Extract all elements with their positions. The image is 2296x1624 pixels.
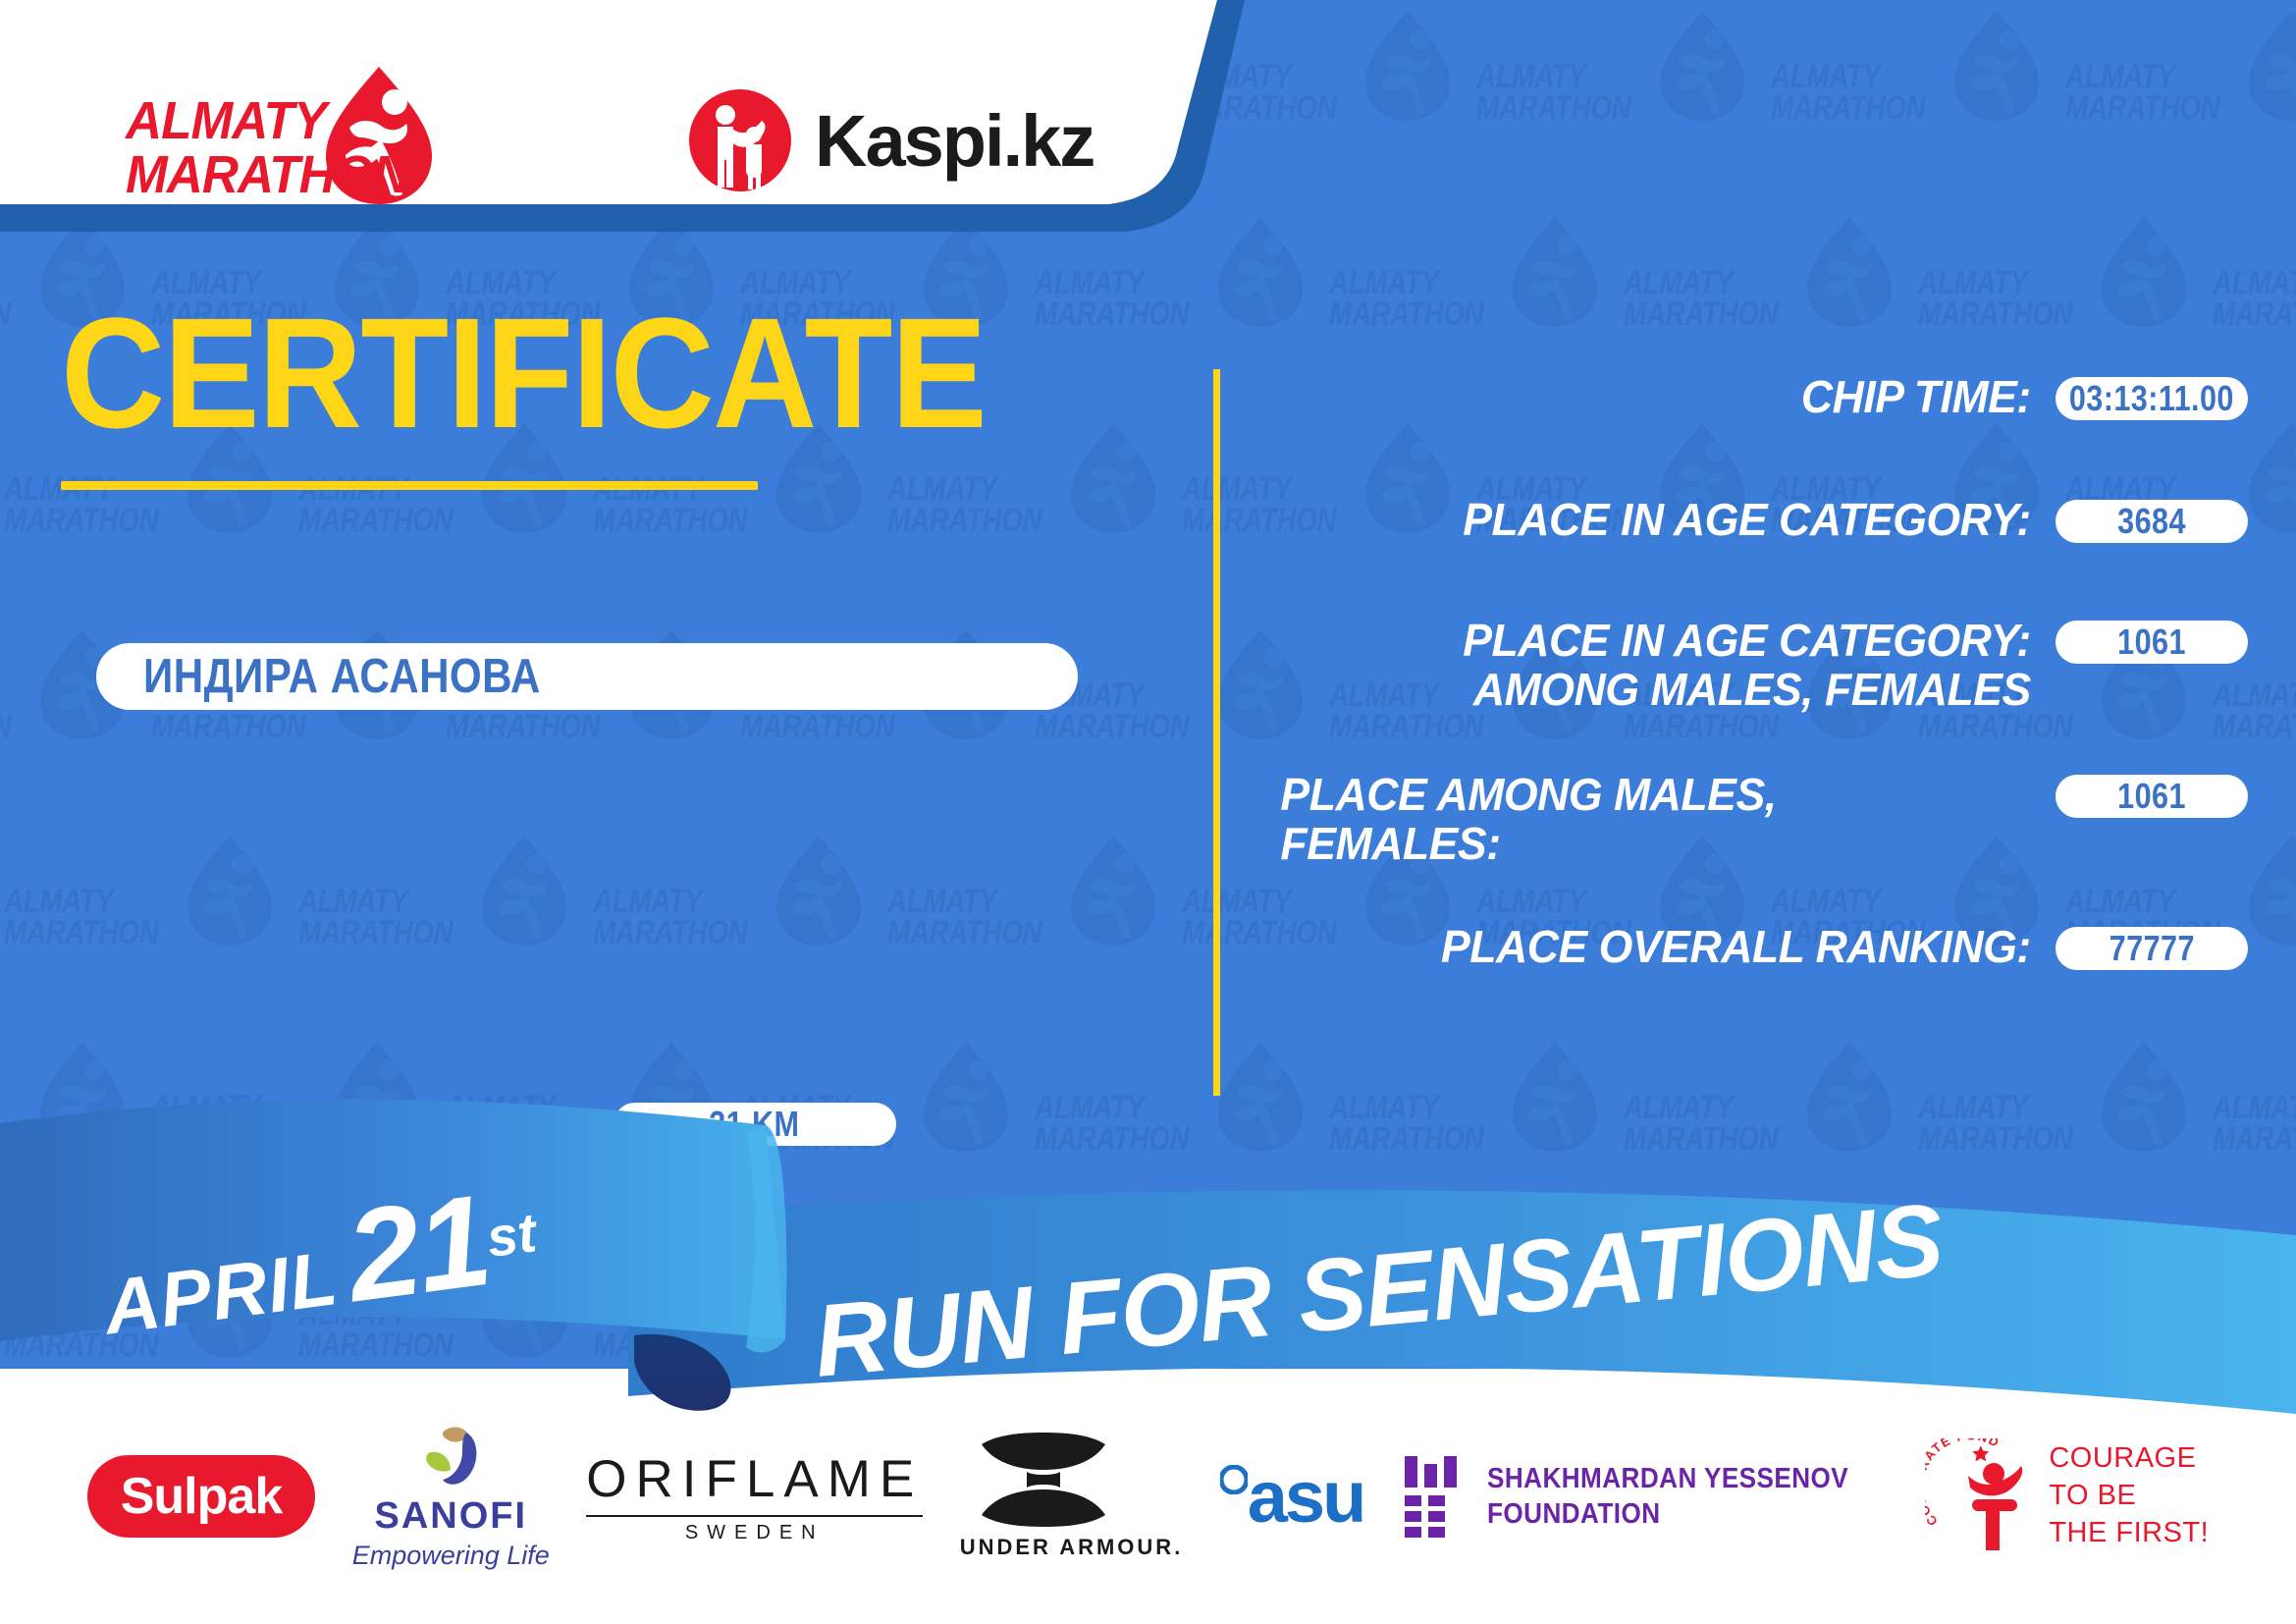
runner-drop-watermark-icon (2244, 420, 2296, 536)
runner-drop-watermark-icon (2097, 214, 2191, 330)
runner-drop-watermark-icon (1066, 420, 1160, 536)
place-among-males-females-label: PLACE AMONG MALES, FEMALES: (1280, 771, 2056, 868)
watermark-text: ALMATYMARATHON (887, 886, 1041, 949)
label-line-1: PLACE IN AGE CATEGORY: (1280, 617, 2030, 666)
sponsor-under-armour: UNDER ARMOUR. (960, 1433, 1184, 1560)
runner-drop-watermark-icon (1508, 214, 1602, 330)
courage-line-2: TO BE (2049, 1478, 2209, 1515)
yessenov-foundation-logo-icon (1401, 1454, 1466, 1539)
place-among-males-females-value: 1061 (2117, 776, 2186, 817)
watermark-tile: ALMATYMARATHON (589, 825, 883, 1031)
stat-row-chip-time: CHIP TIME: 03:13:11.00 (1256, 373, 2248, 422)
participant-name-field: ИНДИРА АСАНОВА (96, 643, 1078, 710)
sulpak-logo: Sulpak (87, 1455, 316, 1538)
certificate-page: ALMATYMARATHONALMATYMARATHONALMATYMARATH… (0, 0, 2296, 1624)
sponsors-row: Sulpak SANOFI Empowering Life ORIFLAME S… (0, 1369, 2296, 1624)
place-age-category-value: 3684 (2117, 501, 2186, 542)
runner-drop-watermark-icon (477, 833, 571, 948)
almaty-marathon-wordmark: ALMATY MARATHON (126, 94, 408, 202)
vertical-divider (1213, 369, 1220, 1096)
sponsor-courage-fund: CORPORATE FUND COURAGE TO BE THE FIRST! (1925, 1438, 2209, 1554)
oriflame-divider (586, 1515, 923, 1517)
event-month: APRIL (99, 1234, 343, 1350)
place-overall-ranking-value: 77777 (2109, 928, 2194, 969)
watermark-text: ALMATYMARATHON (2213, 267, 2296, 331)
kaspi-wordmark: Kaspi.kz (815, 99, 1094, 183)
runner-drop-watermark-icon (1066, 833, 1160, 948)
oriflame-subtitle: SWEDEN (586, 1522, 923, 1544)
place-age-category-among-value: 1061 (2117, 622, 2186, 663)
kaspi-logo: Kaspi.kz (687, 86, 1094, 194)
watermark-text: ALMATYMARATHON (1918, 267, 2072, 331)
runner-drop-watermark-icon (772, 833, 866, 948)
courage-fund-logo-icon: CORPORATE FUND (1925, 1438, 2035, 1554)
sponsor-asu: asu (1220, 1455, 1364, 1539)
watermark-text: ALMATYMARATHON (1329, 267, 1483, 331)
place-overall-ranking-value-pill: 77777 (2056, 927, 2248, 970)
watermark-text: ALMATYMARATHON (1624, 267, 1778, 331)
sanofi-wordmark: SANOFI (352, 1495, 550, 1538)
page-title: CERTIFICATE (61, 295, 986, 452)
stat-row-place-among-males-females: PLACE AMONG MALES, FEMALES: 1061 (1256, 771, 2248, 868)
yessenov-line-2: FOUNDATION (1487, 1496, 1848, 1532)
stat-row-place-overall-ranking: PLACE OVERALL RANKING: 77777 (1256, 923, 2248, 972)
chip-time-value: 03:13:11.00 (2069, 378, 2234, 419)
watermark-text: ALMATYMARATHON (298, 886, 453, 949)
runner-drop-watermark-icon (1655, 8, 1749, 124)
chip-time-label: CHIP TIME: (1280, 373, 2056, 422)
yessenov-wordmark: SHAKHMARDAN YESSENOV FOUNDATION (1487, 1461, 1848, 1533)
watermark-tile: ALMATYMARATHON (2061, 0, 2296, 206)
label-line-2: AMONG MALES, FEMALES (1280, 666, 2030, 715)
label-line-1: PLACE AMONG MALES, (1280, 771, 2030, 820)
runner-drop-watermark-icon (1949, 8, 2044, 124)
watermark-text: ALMATYMARATHON (4, 886, 158, 949)
asu-accent-icon (1220, 1465, 1248, 1494)
runner-drop-watermark-icon (2244, 833, 2296, 948)
kaspi-people-icon (687, 87, 793, 193)
runner-drop-watermark-icon (183, 833, 277, 948)
watermark-tile: ALMATYMARATHON (0, 825, 294, 1031)
sanofi-tagline: Empowering Life (352, 1541, 550, 1571)
place-age-category-label: PLACE IN AGE CATEGORY: (1280, 496, 2056, 545)
watermark-text: ALMATYMARATHON (1771, 61, 1925, 125)
stat-row-place-age-category: PLACE IN AGE CATEGORY: 3684 (1256, 496, 2248, 545)
watermark-tile: ALMATYMARATHON (294, 825, 589, 1031)
marathon-logo-line2: MARATHON (126, 148, 408, 202)
watermark-text: ALMATYMARATHON (1476, 61, 1630, 125)
sponsor-sanofi: SANOFI Empowering Life (352, 1423, 550, 1571)
watermark-tile: ALMATYMARATHON (883, 825, 1178, 1031)
header-logos: ALMATY MARATHON Kaspi.kz (0, 0, 1315, 285)
watermark-tile: ALMATYMARATHON (1767, 0, 2061, 206)
place-age-category-value-pill: 3684 (2056, 500, 2248, 543)
runner-drop-watermark-icon (1802, 214, 1896, 330)
almaty-marathon-logo: ALMATY MARATHON (126, 69, 450, 206)
place-age-category-among-value-pill: 1061 (2056, 621, 2248, 664)
event-ribbon: APRIL21st RUN FOR SENSATIONS (0, 1090, 2296, 1414)
yessenov-line-1: SHAKHMARDAN YESSENOV (1487, 1461, 1848, 1496)
marathon-logo-line1: ALMATY (126, 94, 408, 148)
sanofi-logo-icon (401, 1423, 500, 1493)
courage-line-3: THE FIRST! (2049, 1515, 2209, 1552)
watermark-text: ALMATYMARATHON (887, 473, 1041, 537)
courage-line-1: COURAGE (2049, 1440, 2209, 1478)
courage-fund-wordmark: COURAGE TO BE THE FIRST! (2049, 1440, 2209, 1551)
watermark-text: ALMATYMARATHON (593, 886, 747, 949)
label-line-2: FEMALES: (1280, 820, 2030, 869)
chip-time-value-pill: 03:13:11.00 (2056, 377, 2248, 420)
place-overall-ranking-label: PLACE OVERALL RANKING: (1280, 923, 2056, 972)
under-armour-logo-icon (960, 1433, 1127, 1527)
place-among-males-females-value-pill: 1061 (2056, 775, 2248, 818)
event-day-suffix: st (483, 1201, 540, 1269)
stat-row-place-age-category-among: PLACE IN AGE CATEGORY: AMONG MALES, FEMA… (1256, 617, 2248, 714)
oriflame-wordmark: ORIFLAME (586, 1449, 923, 1509)
watermark-text: ALMATYMARATHON (2065, 61, 2219, 125)
place-age-category-among-label: PLACE IN AGE CATEGORY: AMONG MALES, FEMA… (1280, 617, 2056, 714)
event-day: 21 (339, 1167, 497, 1328)
asu-wordmark: asu (1248, 1455, 1364, 1539)
watermark-text: ALMATYMARATHON (0, 679, 11, 743)
runner-drop-watermark-icon (2244, 8, 2296, 124)
title-underline (61, 481, 758, 490)
under-armour-wordmark: UNDER ARMOUR. (960, 1535, 1184, 1560)
sponsor-oriflame: ORIFLAME SWEDEN (586, 1449, 923, 1544)
sponsor-sulpak: Sulpak (87, 1455, 316, 1538)
participant-name: ИНДИРА АСАНОВА (143, 649, 541, 704)
sponsor-yessenov-foundation: SHAKHMARDAN YESSENOV FOUNDATION (1401, 1454, 1889, 1539)
watermark-tile: ALMATYMARATHON (1472, 0, 1767, 206)
runner-drop-watermark-icon (1361, 8, 1455, 124)
